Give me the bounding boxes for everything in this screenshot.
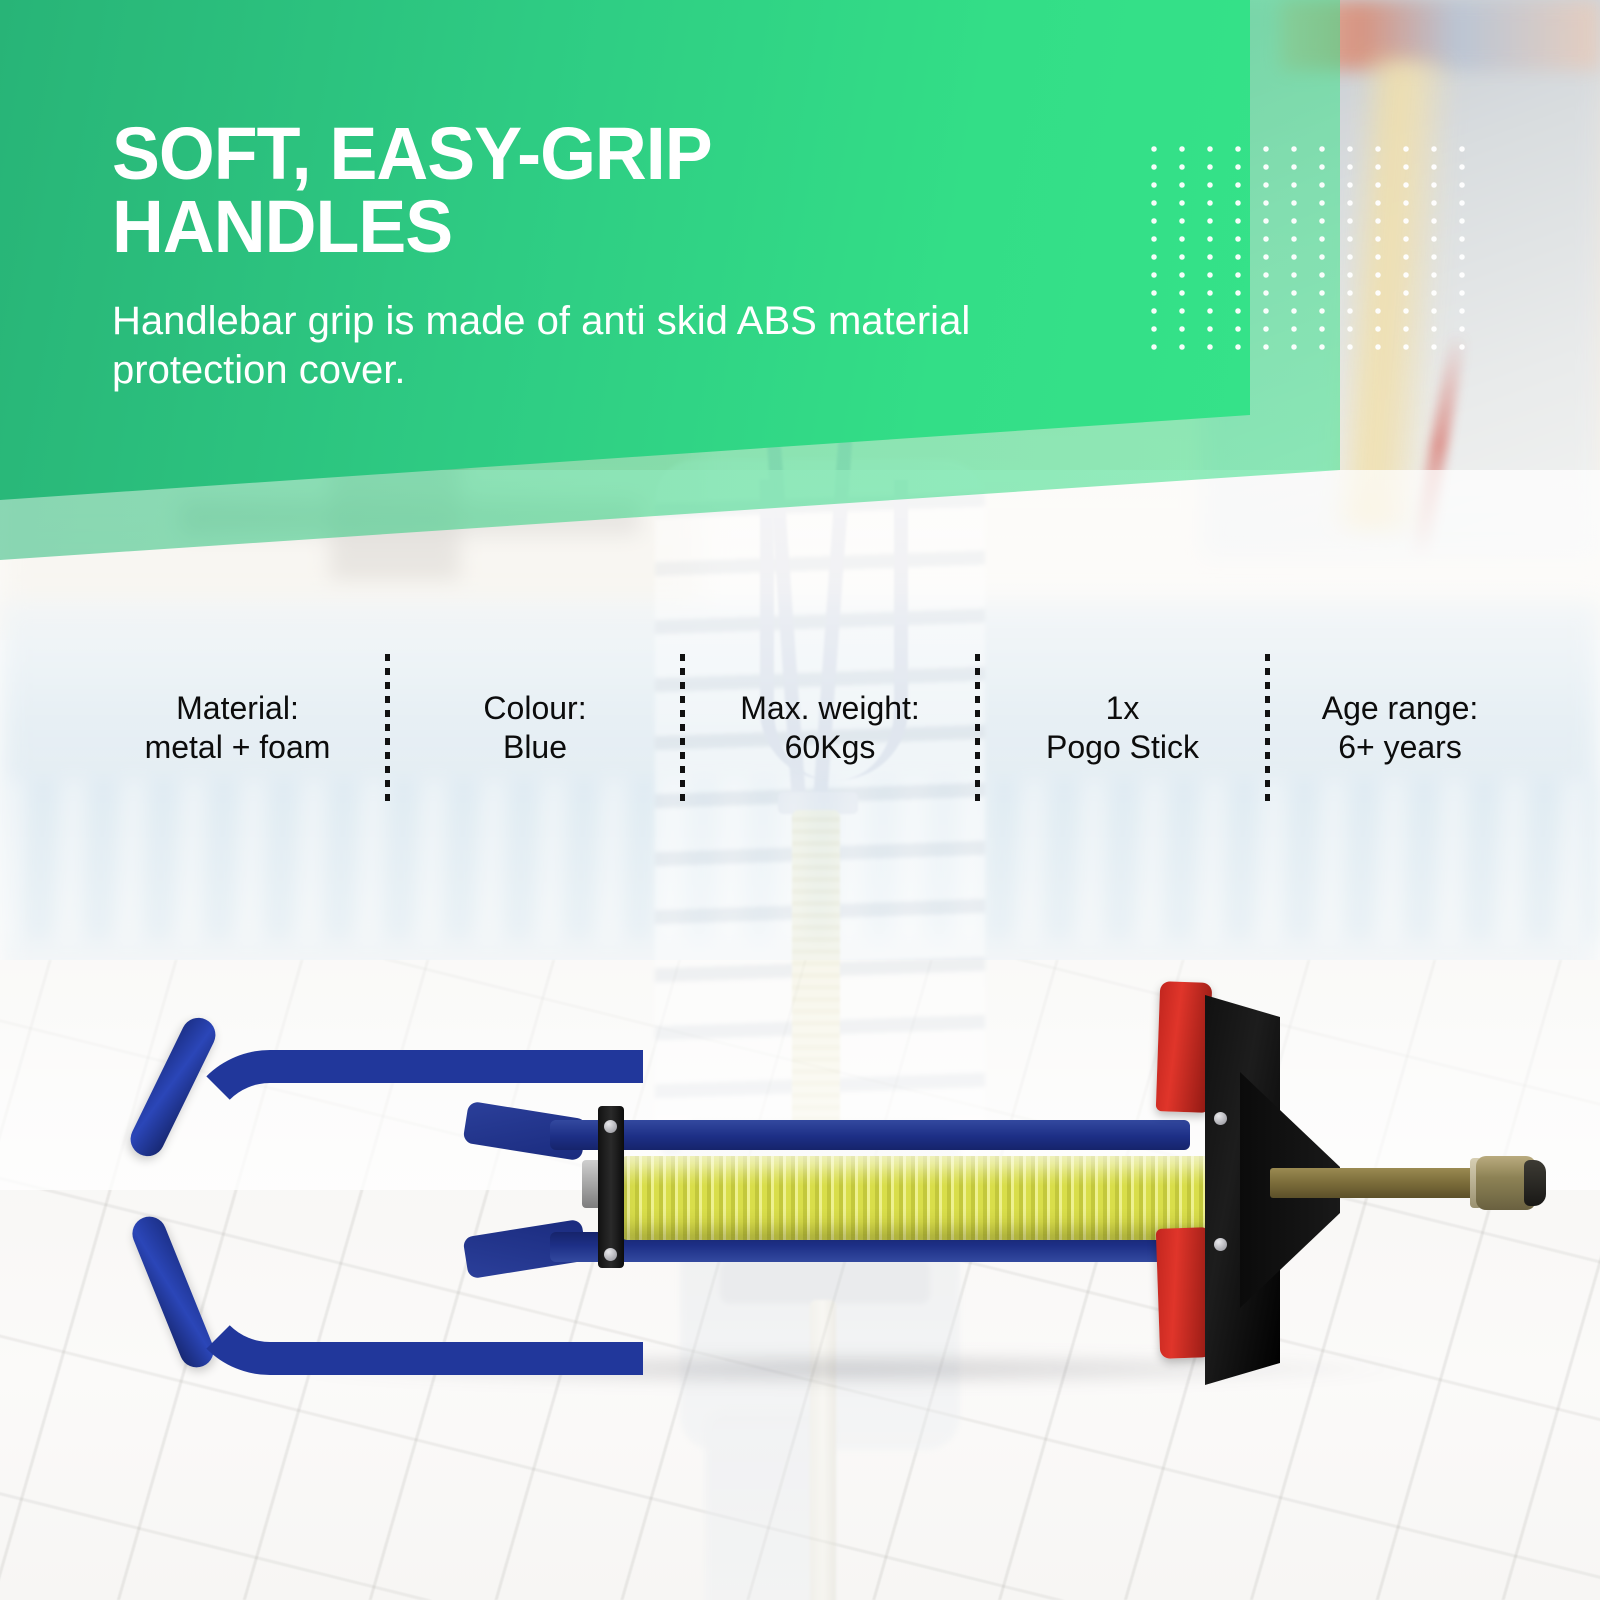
spec-value: Pogo Stick — [1046, 728, 1199, 767]
banner-text-block: SOFT, EASY-GRIP HANDLES Handlebar grip i… — [112, 118, 1012, 395]
spec-value: metal + foam — [145, 728, 331, 767]
frame-rail-upper — [550, 1120, 1190, 1150]
spec-label: Age range: — [1322, 689, 1479, 728]
bolt-icon — [1214, 1238, 1227, 1251]
spec-item-material: Material: metal + foam — [90, 648, 385, 808]
spec-value: 6+ years — [1338, 728, 1462, 767]
spring-highlight — [618, 1156, 1258, 1186]
shaft-rubber-cap — [1524, 1160, 1546, 1206]
product-pogo-stick — [120, 960, 1520, 1380]
footpeg-lower — [1156, 1227, 1213, 1359]
spec-value: Blue — [503, 728, 567, 767]
page-title: SOFT, EASY-GRIP HANDLES — [112, 118, 985, 263]
spec-value: 60Kgs — [785, 728, 876, 767]
spec-item-max-weight: Max. weight: 60Kgs — [685, 648, 975, 808]
spec-label: Max. weight: — [740, 689, 920, 728]
spec-item-quantity: 1x Pogo Stick — [980, 648, 1265, 808]
headline-banner: SOFT, EASY-GRIP HANDLES Handlebar grip i… — [0, 0, 1250, 500]
spec-label: Colour: — [483, 689, 586, 728]
bolt-icon — [604, 1120, 617, 1133]
page-subtitle: Handlebar grip is made of anti skid ABS … — [112, 297, 992, 395]
footpeg-upper — [1156, 981, 1213, 1113]
product-feature-card: SOFT, EASY-GRIP HANDLES Handlebar grip i… — [0, 0, 1600, 1600]
spec-label: Material: — [176, 689, 299, 728]
specification-strip: Material: metal + foam Colour: Blue Max.… — [90, 648, 1510, 808]
spec-item-colour: Colour: Blue — [390, 648, 680, 808]
dot-grid-decoration — [1140, 140, 1470, 350]
bolt-icon — [604, 1248, 617, 1261]
spec-label: 1x — [1106, 689, 1140, 728]
spec-item-age-range: Age range: 6+ years — [1270, 648, 1530, 808]
bolt-icon — [1214, 1112, 1227, 1125]
